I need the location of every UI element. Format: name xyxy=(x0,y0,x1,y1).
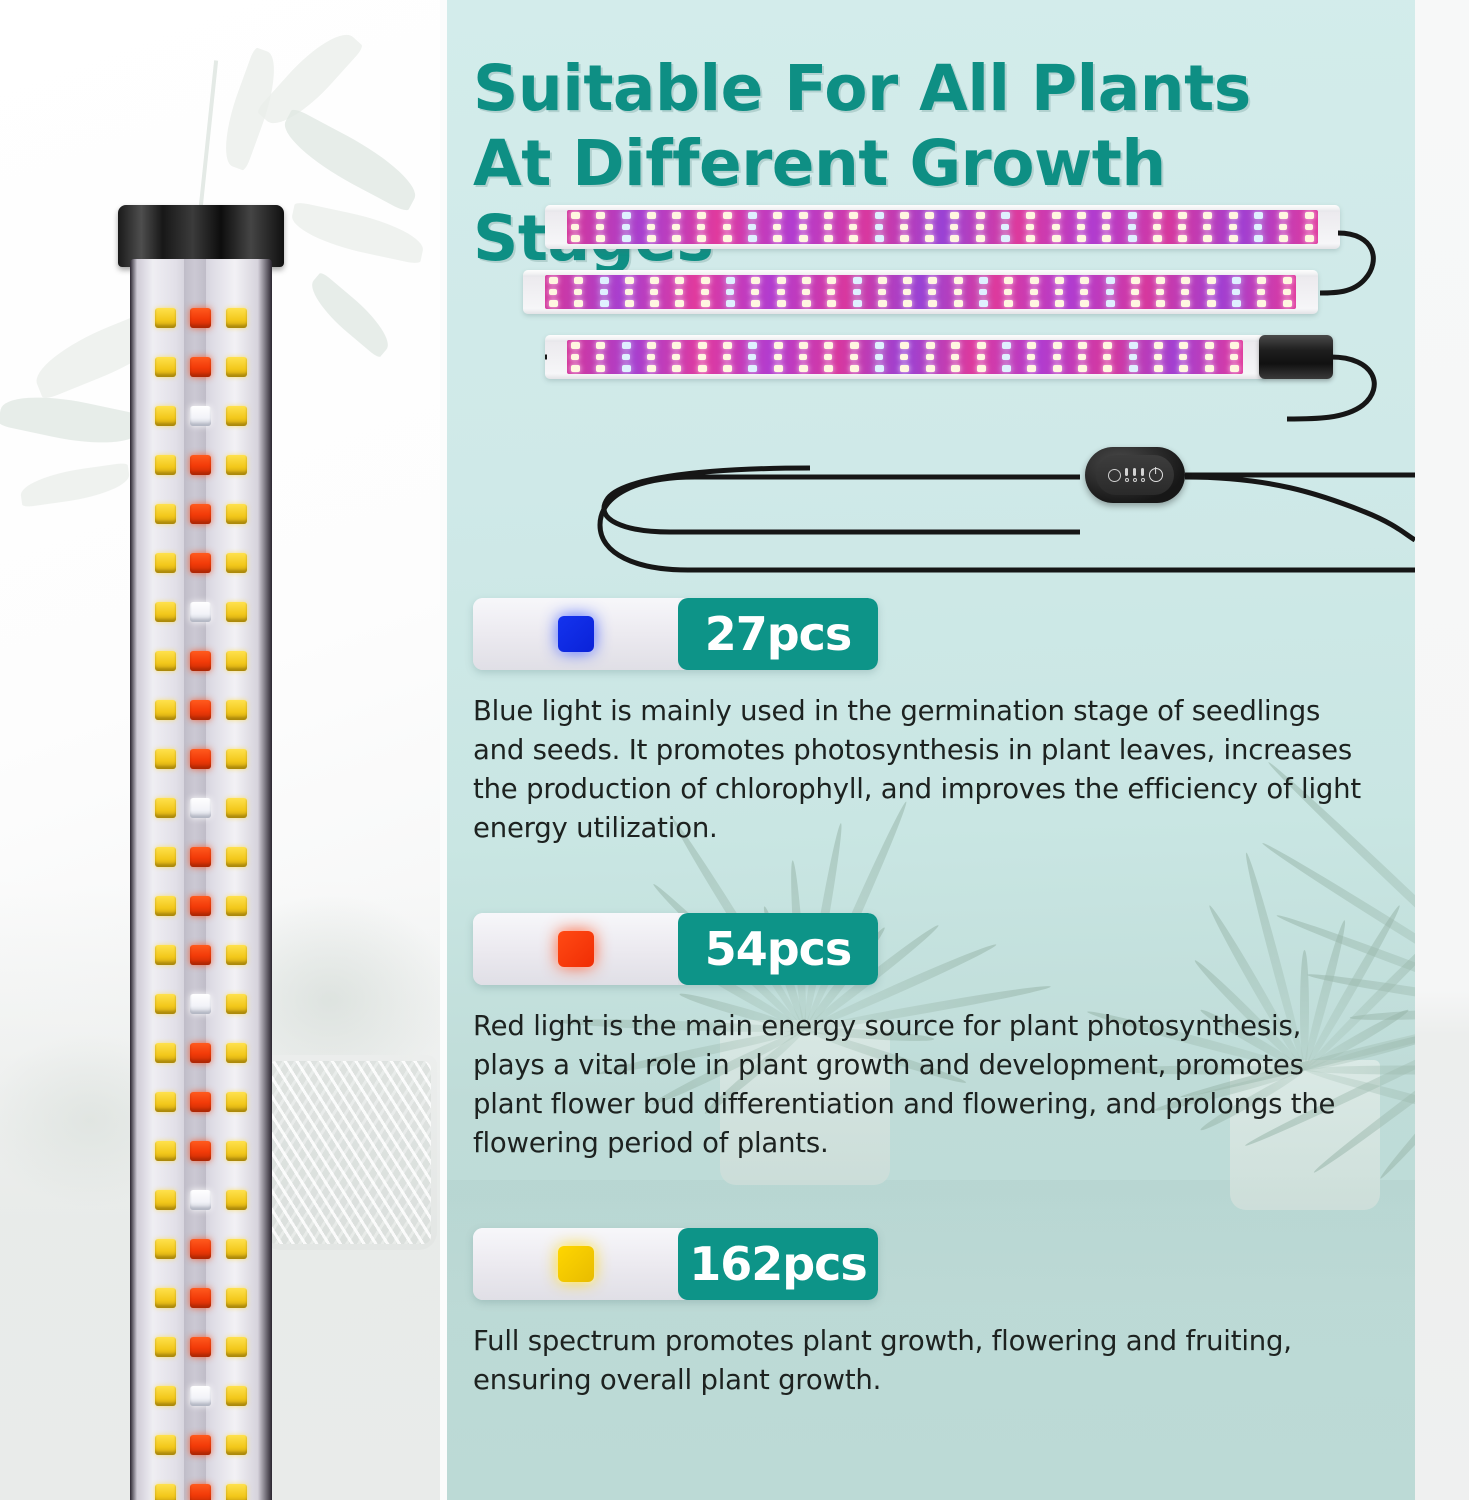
power-button-icon[interactable] xyxy=(1149,468,1163,482)
white-led-icon xyxy=(190,798,211,818)
warm-white-led-icon xyxy=(977,354,985,360)
warm-white-led-icon xyxy=(1178,224,1186,230)
warm-white-led-icon xyxy=(1102,212,1111,219)
warm-white-led-icon xyxy=(647,365,656,372)
warm-white-led-icon xyxy=(1283,277,1292,284)
led-column xyxy=(824,210,833,244)
led-column xyxy=(1002,340,1011,374)
warm-white-led-icon xyxy=(802,300,811,307)
yellow-led-icon xyxy=(155,945,176,965)
yellow-led-icon xyxy=(155,357,176,377)
led-column xyxy=(1053,340,1062,374)
warm-white-led-icon xyxy=(1027,354,1035,360)
warm-white-led-icon xyxy=(1230,365,1239,372)
warm-white-led-icon xyxy=(925,224,933,230)
warm-white-led-icon xyxy=(571,354,579,360)
warm-white-led-icon xyxy=(751,277,760,284)
led-row xyxy=(130,748,272,770)
cool-white-led-icon xyxy=(748,342,757,349)
warm-white-led-icon xyxy=(675,289,683,295)
led-column xyxy=(875,210,884,244)
warm-white-led-icon xyxy=(799,212,808,219)
warm-white-led-icon xyxy=(824,235,833,242)
cool-white-led-icon xyxy=(1129,365,1138,372)
led-column xyxy=(1283,275,1292,309)
led-row xyxy=(130,993,272,1015)
led-column xyxy=(1153,210,1162,244)
yellow-led-icon xyxy=(155,1435,176,1455)
led-bar-surface xyxy=(567,340,1243,374)
yellow-led-icon xyxy=(226,847,247,867)
warm-white-led-icon xyxy=(900,354,908,360)
warm-white-led-icon xyxy=(1153,235,1162,242)
led-column xyxy=(1131,275,1140,309)
led-row xyxy=(130,1042,272,1064)
cool-white-led-icon xyxy=(875,342,884,349)
led-column xyxy=(1279,210,1288,244)
led-column xyxy=(875,340,884,374)
leaf-silhouette xyxy=(18,462,131,507)
led-column xyxy=(1154,340,1163,374)
warm-white-led-icon xyxy=(650,277,659,284)
warm-white-led-icon xyxy=(672,212,681,219)
warm-white-led-icon xyxy=(777,277,786,284)
led-row xyxy=(130,944,272,966)
warm-white-led-icon xyxy=(773,235,782,242)
warm-white-led-icon xyxy=(950,224,958,230)
red-led-icon xyxy=(190,700,211,720)
red-led-icon xyxy=(190,945,211,965)
warm-white-led-icon xyxy=(954,289,962,295)
yellow-led-icon xyxy=(155,847,176,867)
warm-white-led-icon xyxy=(625,277,634,284)
white-led-icon xyxy=(190,994,211,1014)
warm-white-led-icon xyxy=(824,365,833,372)
warm-white-led-icon xyxy=(977,342,986,349)
led-bar-surface xyxy=(545,275,1296,309)
warm-white-led-icon xyxy=(954,277,963,284)
led-row xyxy=(130,1238,272,1260)
led-column xyxy=(698,340,707,374)
warm-white-led-icon xyxy=(951,365,960,372)
yellow-led-icon xyxy=(226,406,247,426)
warm-white-led-icon xyxy=(799,354,807,360)
leaf-silhouette xyxy=(302,271,398,358)
led-row xyxy=(130,1434,272,1456)
warm-white-led-icon xyxy=(596,235,605,242)
white-led-icon xyxy=(190,602,211,622)
infographic-page: Suitable For All Plants At Different Gro… xyxy=(0,0,1469,1500)
warm-white-led-icon xyxy=(571,365,580,372)
yellow-led-icon xyxy=(155,896,176,916)
led-column xyxy=(1004,275,1013,309)
warm-white-led-icon xyxy=(1077,235,1086,242)
warm-white-led-icon xyxy=(928,289,936,295)
warm-white-led-icon xyxy=(1203,235,1212,242)
led-light-bars-group xyxy=(545,205,1405,535)
yellow-led-icon xyxy=(155,1043,176,1063)
cool-white-led-icon xyxy=(1129,342,1138,349)
warm-white-led-icon xyxy=(954,300,963,307)
warm-white-led-icon xyxy=(1026,224,1034,230)
warm-white-led-icon xyxy=(1004,277,1013,284)
led-column xyxy=(926,340,935,374)
warm-white-led-icon xyxy=(926,365,935,372)
red-light-description: Red light is the main energy source for … xyxy=(473,1007,1363,1163)
warm-white-led-icon xyxy=(827,277,836,284)
warm-white-led-icon xyxy=(1154,365,1163,372)
warm-white-led-icon xyxy=(1257,289,1265,295)
led-column xyxy=(853,275,862,309)
led-column xyxy=(900,340,909,374)
cool-white-led-icon xyxy=(1106,300,1115,307)
woven-basket-planter xyxy=(262,1055,437,1250)
led-column xyxy=(672,340,681,374)
warm-white-led-icon xyxy=(799,235,808,242)
cool-white-led-icon xyxy=(1129,354,1137,360)
yellow-led-icon xyxy=(155,1288,176,1308)
yellow-led-icon xyxy=(226,1141,247,1161)
yellow-led-icon xyxy=(226,651,247,671)
yellow-led-icon xyxy=(226,1386,247,1406)
warm-white-led-icon xyxy=(925,212,934,219)
warm-white-led-icon xyxy=(878,289,886,295)
warm-white-led-icon xyxy=(1279,212,1288,219)
warm-white-led-icon xyxy=(802,289,810,295)
led-row xyxy=(130,1140,272,1162)
warm-white-led-icon xyxy=(596,342,605,349)
led-column xyxy=(799,340,808,374)
led-row xyxy=(130,1385,272,1407)
yellow-led-icon xyxy=(226,1190,247,1210)
warm-white-led-icon xyxy=(1052,212,1061,219)
warm-white-led-icon xyxy=(571,224,579,230)
led-column xyxy=(827,275,836,309)
cool-white-led-icon xyxy=(853,300,862,307)
indicator-dots-icon xyxy=(1133,468,1137,482)
warm-white-led-icon xyxy=(1026,235,1035,242)
warm-white-led-icon xyxy=(1153,224,1161,230)
cool-white-led-icon xyxy=(1254,224,1262,230)
warm-white-led-icon xyxy=(849,224,857,230)
warm-white-led-icon xyxy=(647,212,656,219)
warm-white-led-icon xyxy=(903,277,912,284)
warm-white-led-icon xyxy=(1080,289,1088,295)
yellow-led-icon xyxy=(226,1484,247,1500)
yellow-led-icon xyxy=(226,1288,247,1308)
warm-white-led-icon xyxy=(1178,235,1187,242)
led-column xyxy=(878,275,887,309)
warm-white-led-icon xyxy=(773,212,782,219)
warm-white-led-icon xyxy=(1078,342,1087,349)
warm-white-led-icon xyxy=(824,354,832,360)
main-content-panel: Suitable For All Plants At Different Gro… xyxy=(440,0,1415,1500)
warm-white-led-icon xyxy=(1102,235,1111,242)
cool-white-led-icon xyxy=(1232,289,1240,295)
led-column xyxy=(1001,210,1010,244)
yellow-led-icon xyxy=(155,1190,176,1210)
cool-white-led-icon xyxy=(748,212,757,219)
warm-white-led-icon xyxy=(850,354,858,360)
led-column xyxy=(1305,210,1314,244)
yellow-led-icon xyxy=(155,1141,176,1161)
red-led-icon xyxy=(190,1092,211,1112)
cool-white-led-icon xyxy=(1001,212,1010,219)
warm-white-led-icon xyxy=(928,300,937,307)
led-column xyxy=(1178,210,1187,244)
warm-white-led-icon xyxy=(1055,289,1063,295)
yellow-led-icon xyxy=(155,455,176,475)
cool-white-led-icon xyxy=(1001,224,1009,230)
led-column xyxy=(1232,275,1241,309)
red-led-icon xyxy=(190,896,211,916)
warm-white-led-icon xyxy=(827,289,835,295)
cool-white-led-icon xyxy=(875,224,883,230)
yellow-led-icon xyxy=(226,553,247,573)
yellow-led-icon xyxy=(226,700,247,720)
led-column xyxy=(777,275,786,309)
led-column xyxy=(1205,340,1214,374)
warm-white-led-icon xyxy=(571,342,580,349)
warm-white-led-icon xyxy=(774,354,782,360)
red-led-count: 54pcs xyxy=(678,913,878,985)
warm-white-led-icon xyxy=(777,300,786,307)
warm-white-led-icon xyxy=(878,300,887,307)
yellow-led-icon xyxy=(155,1337,176,1357)
feature-row-red: 54pcs Red light is the main energy sourc… xyxy=(473,913,1378,1163)
warm-white-led-icon xyxy=(672,342,681,349)
warm-white-led-icon xyxy=(1203,212,1212,219)
led-row xyxy=(130,797,272,819)
yellow-led-icon xyxy=(155,504,176,524)
warm-white-led-icon xyxy=(1154,354,1162,360)
led-column xyxy=(751,275,760,309)
leaf-silhouette xyxy=(288,201,428,264)
timer-icon[interactable] xyxy=(1108,469,1121,482)
yellow-led-icon xyxy=(155,1239,176,1259)
warm-white-led-icon xyxy=(1305,224,1313,230)
led-column xyxy=(850,340,859,374)
warm-white-led-icon xyxy=(1030,277,1039,284)
cool-white-led-icon xyxy=(622,235,631,242)
warm-white-led-icon xyxy=(1230,342,1239,349)
warm-white-led-icon xyxy=(1257,277,1266,284)
warm-white-led-icon xyxy=(625,300,634,307)
led-row xyxy=(130,1336,272,1358)
warm-white-led-icon xyxy=(1131,289,1139,295)
warm-white-led-icon xyxy=(1004,300,1013,307)
warm-white-led-icon xyxy=(878,277,887,284)
led-column xyxy=(571,210,580,244)
warm-white-led-icon xyxy=(1153,212,1162,219)
led-column xyxy=(979,275,988,309)
warm-white-led-icon xyxy=(1279,235,1288,242)
warm-white-led-icon xyxy=(824,212,833,219)
led-column xyxy=(647,210,656,244)
white-led-icon xyxy=(190,406,211,426)
cool-white-led-icon xyxy=(1232,300,1241,307)
red-led-icon xyxy=(190,847,211,867)
warm-white-led-icon xyxy=(951,342,960,349)
warm-white-led-icon xyxy=(571,235,580,242)
warm-white-led-icon xyxy=(849,212,858,219)
yellow-led-icon xyxy=(226,945,247,965)
blue-led-chip-icon xyxy=(558,616,594,652)
cool-white-led-icon xyxy=(1002,365,1011,372)
led-column xyxy=(574,275,583,309)
warm-white-led-icon xyxy=(1055,277,1064,284)
red-led-icon xyxy=(190,504,211,524)
warm-white-led-icon xyxy=(1205,342,1214,349)
warm-white-led-icon xyxy=(650,300,659,307)
cool-white-led-icon xyxy=(748,224,756,230)
cool-white-led-icon xyxy=(1254,212,1263,219)
cool-white-led-icon xyxy=(600,300,609,307)
warm-white-led-icon xyxy=(926,354,934,360)
warm-white-led-icon xyxy=(824,342,833,349)
warm-white-led-icon xyxy=(802,277,811,284)
red-led-icon xyxy=(190,749,211,769)
led-column xyxy=(903,275,912,309)
cool-white-led-icon xyxy=(726,277,735,284)
led-column xyxy=(774,340,783,374)
yellow-led-icon xyxy=(226,798,247,818)
cool-white-led-icon xyxy=(1128,224,1136,230)
yellow-led-icon xyxy=(155,553,176,573)
inline-controller[interactable] xyxy=(1085,447,1185,503)
led-column xyxy=(647,340,656,374)
warm-white-led-icon xyxy=(697,212,706,219)
warm-white-led-icon xyxy=(697,224,705,230)
warm-white-led-icon xyxy=(1207,289,1215,295)
warm-white-led-icon xyxy=(1131,300,1140,307)
cool-white-led-icon xyxy=(979,300,988,307)
yellow-led-icon xyxy=(226,1092,247,1112)
led-column xyxy=(723,340,732,374)
led-column xyxy=(726,275,735,309)
warm-white-led-icon xyxy=(1179,354,1187,360)
warm-white-led-icon xyxy=(672,365,681,372)
red-led-icon xyxy=(190,357,211,377)
indicator-dots-icon xyxy=(1125,468,1129,482)
tube-center-band xyxy=(184,259,206,1500)
warm-white-led-icon xyxy=(1080,300,1089,307)
yellow-led-icon xyxy=(226,1043,247,1063)
led-row xyxy=(130,650,272,672)
warm-white-led-icon xyxy=(1077,212,1086,219)
led-row xyxy=(130,1483,272,1500)
warm-white-led-icon xyxy=(1078,365,1087,372)
led-strip-segment xyxy=(473,598,678,670)
cool-white-led-icon xyxy=(1106,277,1115,284)
warm-white-led-icon xyxy=(1203,224,1211,230)
led-light-bar xyxy=(523,270,1318,314)
warm-white-led-icon xyxy=(1230,354,1238,360)
warm-white-led-icon xyxy=(650,289,658,295)
cool-white-led-icon xyxy=(600,289,608,295)
warm-white-led-icon xyxy=(647,342,656,349)
led-row xyxy=(130,307,272,329)
cool-white-led-icon xyxy=(1232,277,1241,284)
warm-white-led-icon xyxy=(723,235,732,242)
warm-white-led-icon xyxy=(1055,300,1064,307)
warm-white-led-icon xyxy=(751,289,759,295)
warm-white-led-icon xyxy=(1053,342,1062,349)
warm-white-led-icon xyxy=(574,300,583,307)
cool-white-led-icon xyxy=(1254,235,1263,242)
led-column xyxy=(1156,275,1165,309)
red-led-icon xyxy=(190,1288,211,1308)
warm-white-led-icon xyxy=(903,289,911,295)
led-row xyxy=(130,699,272,721)
warm-white-led-icon xyxy=(549,289,557,295)
warm-white-led-icon xyxy=(1181,300,1190,307)
warm-white-led-icon xyxy=(1305,235,1314,242)
white-led-icon xyxy=(190,1190,211,1210)
led-column xyxy=(625,275,634,309)
led-column xyxy=(802,275,811,309)
warm-white-led-icon xyxy=(976,235,985,242)
warm-white-led-icon xyxy=(925,235,934,242)
led-column xyxy=(1257,275,1266,309)
warm-white-led-icon xyxy=(774,365,783,372)
blue-led-badge: 27pcs xyxy=(473,598,878,670)
yellow-led-icon xyxy=(155,308,176,328)
yellow-led-icon xyxy=(226,749,247,769)
warm-white-led-icon xyxy=(625,289,633,295)
warm-white-led-icon xyxy=(850,342,859,349)
warm-white-led-icon xyxy=(1103,342,1112,349)
feature-row-blue: 27pcs Blue light is mainly used in the g… xyxy=(473,598,1378,848)
warm-white-led-icon xyxy=(824,224,832,230)
warm-white-led-icon xyxy=(549,300,558,307)
warm-white-led-icon xyxy=(1229,212,1238,219)
warm-white-led-icon xyxy=(723,365,732,372)
left-product-photo-panel xyxy=(0,0,440,1500)
red-led-badge: 54pcs xyxy=(473,913,878,985)
yellow-led-icon xyxy=(155,798,176,818)
warm-white-led-icon xyxy=(672,235,681,242)
cool-white-led-icon xyxy=(979,277,988,284)
warm-white-led-icon xyxy=(675,277,684,284)
yellow-led-icon xyxy=(155,994,176,1014)
led-column xyxy=(951,340,960,374)
warm-white-led-icon xyxy=(1026,212,1035,219)
led-column xyxy=(950,210,959,244)
cool-white-led-icon xyxy=(853,277,862,284)
warm-white-led-icon xyxy=(1178,212,1187,219)
yellow-led-icon xyxy=(155,749,176,769)
warm-white-led-icon xyxy=(900,224,908,230)
led-column xyxy=(650,275,659,309)
warm-white-led-icon xyxy=(900,342,909,349)
warm-white-led-icon xyxy=(701,300,710,307)
led-row xyxy=(130,1189,272,1211)
red-led-icon xyxy=(190,1043,211,1063)
led-row xyxy=(130,1091,272,1113)
panel-divider xyxy=(440,0,447,1500)
warm-white-led-icon xyxy=(1131,277,1140,284)
led-column xyxy=(824,340,833,374)
led-row xyxy=(130,601,272,623)
led-bar-surface xyxy=(567,210,1318,244)
led-column xyxy=(954,275,963,309)
led-column xyxy=(1103,340,1112,374)
warm-white-led-icon xyxy=(827,300,836,307)
fullspectrum-description: Full spectrum promotes plant growth, flo… xyxy=(473,1322,1363,1400)
cool-white-led-icon xyxy=(748,365,757,372)
led-row xyxy=(130,454,272,476)
